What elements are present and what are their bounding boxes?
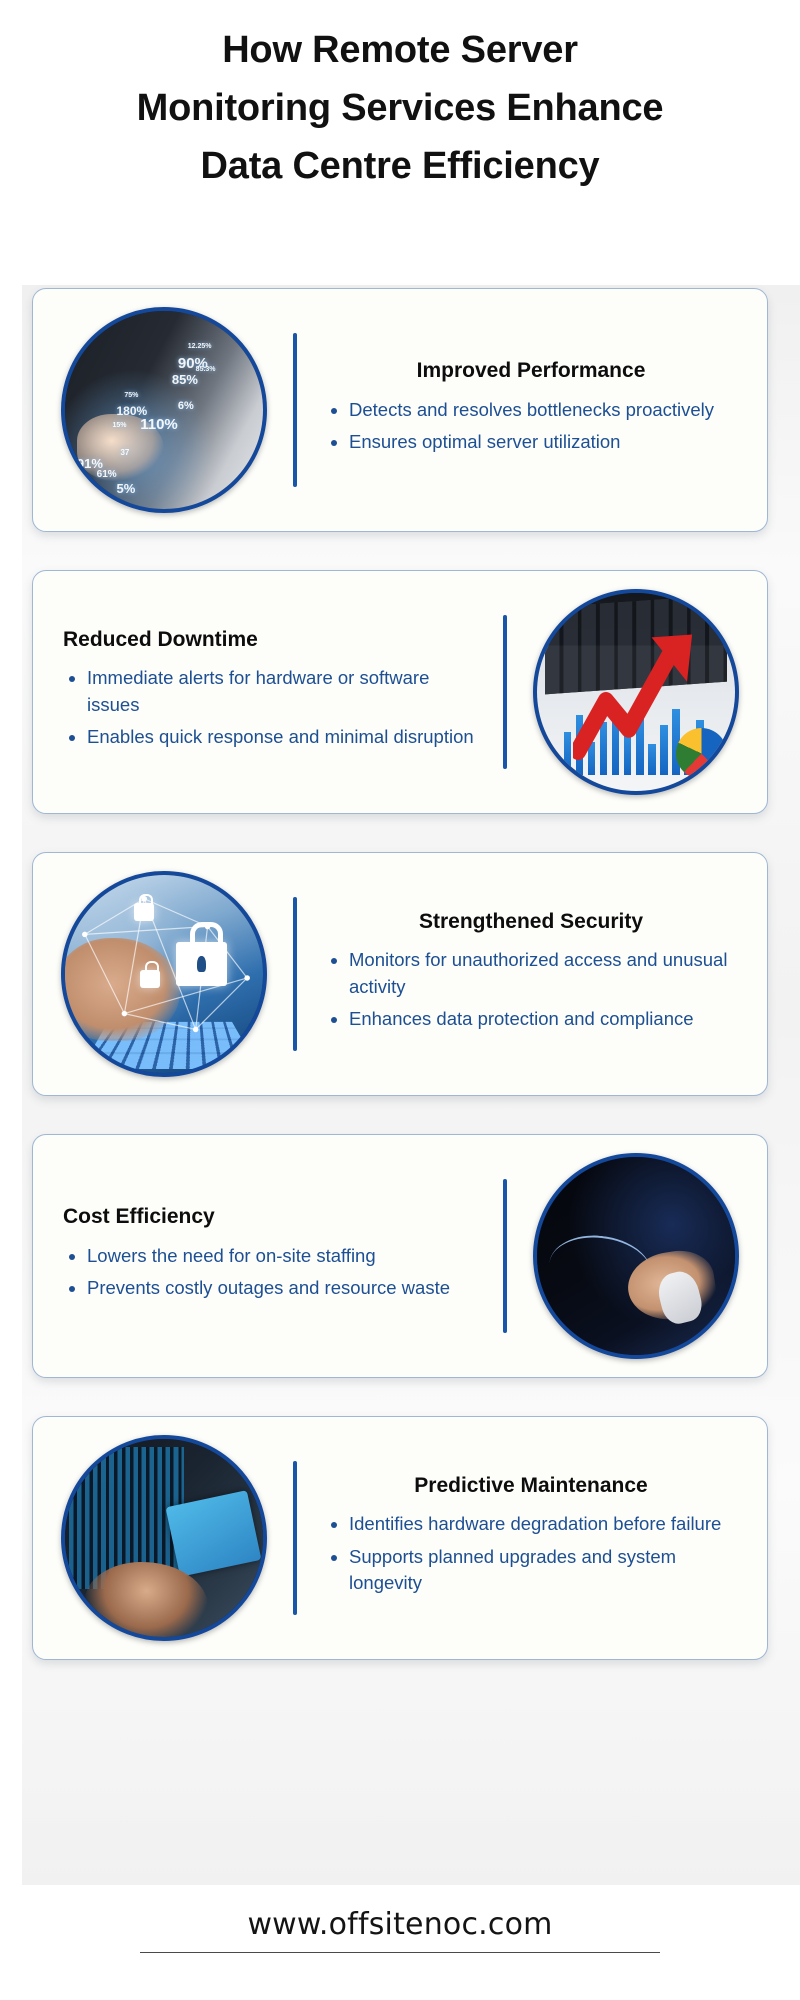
cyber-security-lock-photo bbox=[61, 871, 267, 1077]
card-media bbox=[53, 871, 275, 1077]
list-item: Lowers the need for on-site staffing bbox=[65, 1243, 479, 1270]
network-lines-icon bbox=[65, 875, 263, 1073]
card-media bbox=[53, 1435, 275, 1641]
uptime-chart-photo bbox=[533, 589, 739, 795]
card-divider bbox=[293, 1461, 297, 1615]
lock-icon-small bbox=[134, 903, 154, 921]
card-media: 12.25% 90% 85% 85.3% 75% 180% 6% 110% 15… bbox=[53, 307, 275, 513]
page-title: How Remote Server Monitoring Services En… bbox=[0, 0, 800, 195]
card-body: Cost Efficiency Lowers the need for on-s… bbox=[53, 1200, 485, 1312]
list-item: Monitors for unauthorized access and unu… bbox=[327, 947, 741, 1000]
monitoring-dashboard-tablet-photo bbox=[61, 1435, 267, 1641]
title-line-1: How Remote Server bbox=[60, 22, 740, 80]
list-item: Detects and resolves bottlenecks proacti… bbox=[327, 397, 741, 424]
card-body: Predictive Maintenance Identifies hardwa… bbox=[315, 1469, 747, 1607]
card-heading: Predictive Maintenance bbox=[321, 1473, 741, 1499]
list-item: Enhances data protection and compliance bbox=[327, 1006, 741, 1033]
lock-icon-small bbox=[140, 970, 160, 988]
card-media bbox=[525, 589, 747, 795]
card-body: Reduced Downtime Immediate alerts for ha… bbox=[53, 623, 485, 761]
benefit-card[interactable]: Reduced Downtime Immediate alerts for ha… bbox=[32, 570, 768, 814]
card-media bbox=[525, 1153, 747, 1359]
card-bullets: Detects and resolves bottlenecks proacti… bbox=[321, 397, 741, 456]
card-bullets: Identifies hardware degradation before f… bbox=[321, 1511, 741, 1597]
analytics-overlay-numbers: 12.25% 90% 85% 85.3% 75% 180% 6% 110% 15… bbox=[65, 311, 263, 509]
benefit-card[interactable]: 12.25% 90% 85% 85.3% 75% 180% 6% 110% 15… bbox=[32, 288, 768, 532]
list-item: Prevents costly outages and resource was… bbox=[65, 1275, 479, 1302]
card-heading: Reduced Downtime bbox=[59, 627, 479, 653]
card-bullets: Monitors for unauthorized access and unu… bbox=[321, 947, 741, 1033]
card-bullets: Immediate alerts for hardware or softwar… bbox=[59, 665, 479, 751]
footer-divider bbox=[140, 1952, 660, 1953]
list-item: Ensures optimal server utilization bbox=[327, 429, 741, 456]
card-heading: Strengthened Security bbox=[321, 909, 741, 935]
card-heading: Cost Efficiency bbox=[59, 1204, 479, 1230]
card-divider bbox=[293, 333, 297, 487]
title-line-2: Monitoring Services Enhance bbox=[60, 80, 740, 138]
list-item: Identifies hardware degradation before f… bbox=[327, 1511, 741, 1538]
card-body: Strengthened Security Monitors for unaut… bbox=[315, 905, 747, 1043]
benefit-card-list: 12.25% 90% 85% 85.3% 75% 180% 6% 110% 15… bbox=[0, 288, 800, 1698]
list-item: Enables quick response and minimal disru… bbox=[65, 724, 479, 751]
performance-analytics-photo: 12.25% 90% 85% 85.3% 75% 180% 6% 110% 15… bbox=[61, 307, 267, 513]
infographic-page: How Remote Server Monitoring Services En… bbox=[0, 0, 800, 2000]
list-item: Supports planned upgrades and system lon… bbox=[327, 1544, 741, 1597]
benefit-card[interactable]: Cost Efficiency Lowers the need for on-s… bbox=[32, 1134, 768, 1378]
card-divider bbox=[503, 1179, 507, 1333]
computer-mouse-photo bbox=[533, 1153, 739, 1359]
footer: www.offsitenoc.com bbox=[0, 1885, 800, 2000]
benefit-card[interactable]: Strengthened Security Monitors for unaut… bbox=[32, 852, 768, 1096]
website-url[interactable]: www.offsitenoc.com bbox=[247, 1907, 552, 1942]
card-divider bbox=[503, 615, 507, 769]
pie-chart-graphic bbox=[676, 728, 727, 779]
card-heading: Improved Performance bbox=[321, 358, 741, 384]
lock-icon bbox=[176, 942, 227, 986]
list-item: Immediate alerts for hardware or softwar… bbox=[65, 665, 479, 718]
card-divider bbox=[293, 897, 297, 1051]
card-bullets: Lowers the need for on-site staffing Pre… bbox=[59, 1243, 479, 1302]
card-body: Improved Performance Detects and resolve… bbox=[315, 354, 747, 466]
title-line-3: Data Centre Efficiency bbox=[60, 138, 740, 196]
benefit-card[interactable]: Predictive Maintenance Identifies hardwa… bbox=[32, 1416, 768, 1660]
